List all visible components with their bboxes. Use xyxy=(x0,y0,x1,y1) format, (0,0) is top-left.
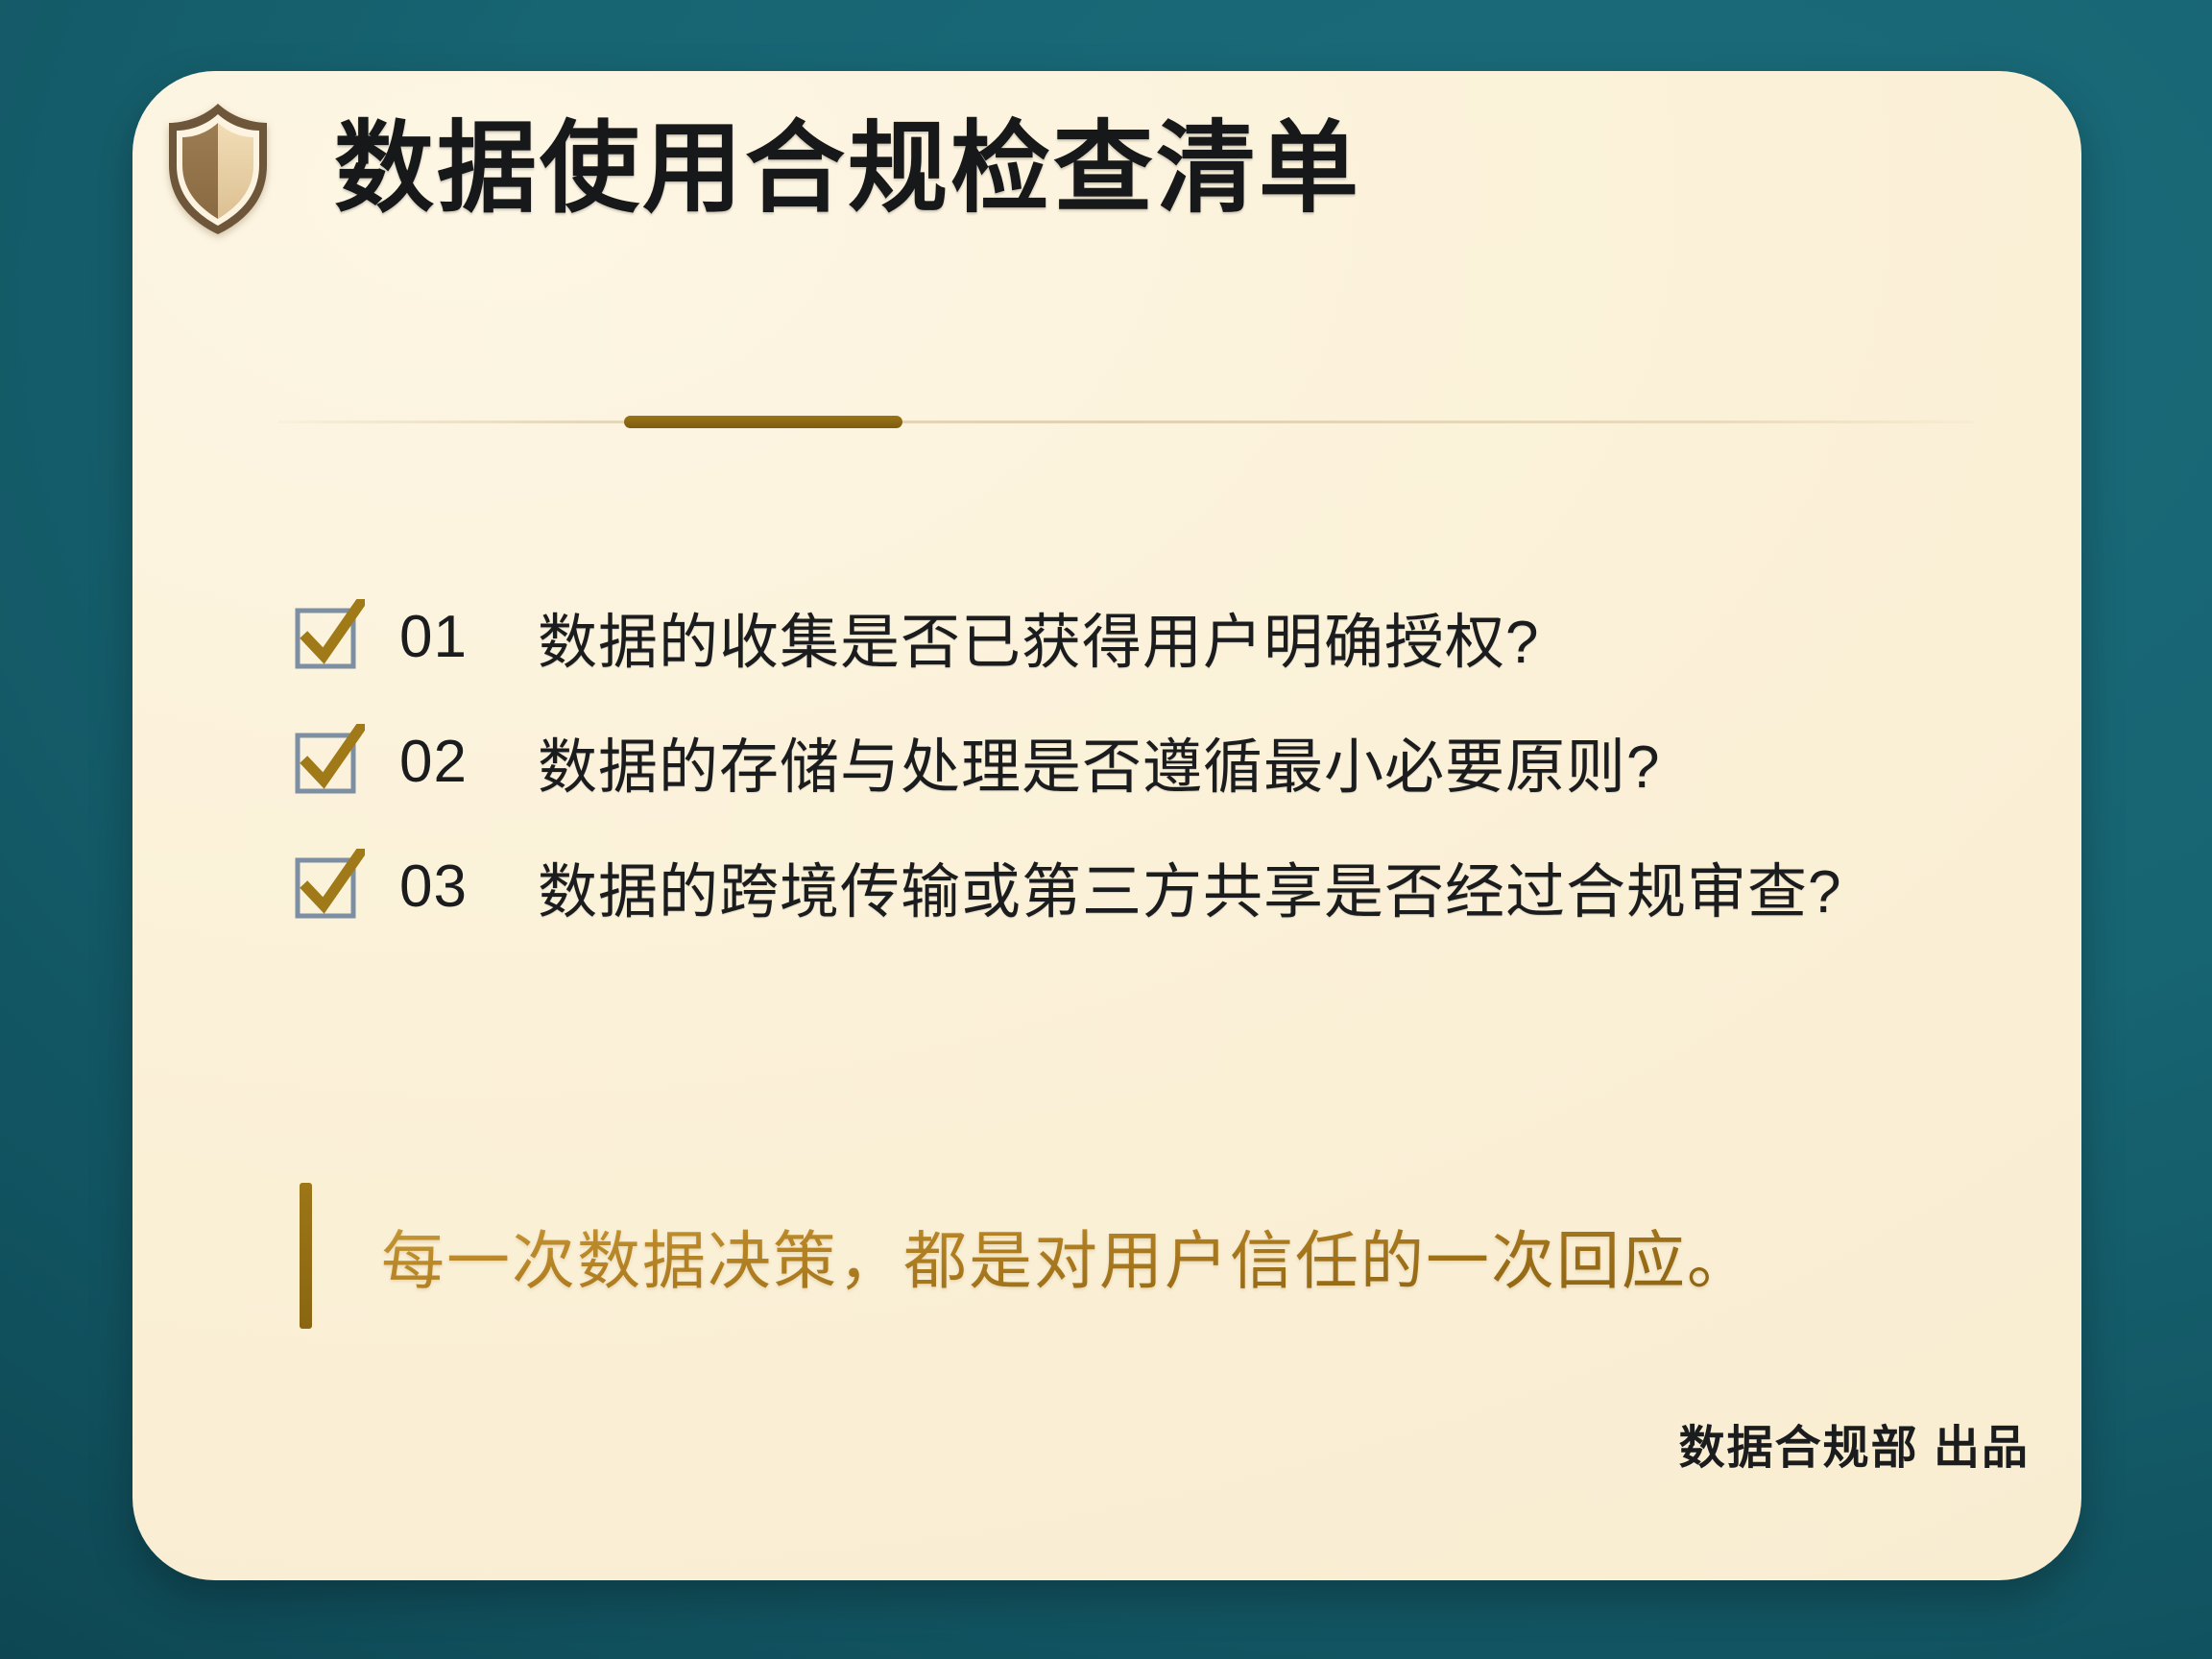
checkbox-checked-icon[interactable] xyxy=(294,599,365,670)
checkbox-checked-icon[interactable] xyxy=(294,724,365,795)
checklist-item[interactable]: 03 数据的跨境传输或第三方共享是否经过合规审查? xyxy=(294,824,2003,949)
checklist-item-text: 数据的收集是否已获得用户明确授权? xyxy=(538,593,1539,680)
checklist-item[interactable]: 01 数据的收集是否已获得用户明确授权? xyxy=(294,574,2003,699)
checkbox-checked-icon[interactable] xyxy=(294,849,365,920)
checklist-item-text: 数据的跨境传输或第三方共享是否经过合规审查? xyxy=(538,843,1841,929)
title-divider xyxy=(278,413,1973,430)
quote-block: 每一次数据决策，都是对用户信任的一次回应。 xyxy=(300,1183,1752,1329)
quote-text: 每一次数据决策，都是对用户信任的一次回应。 xyxy=(381,1210,1752,1302)
footer-credit: 数据合规部 出品 xyxy=(1679,1409,2030,1477)
checklist-item-number: 02 xyxy=(399,728,507,796)
checklist-item-number: 03 xyxy=(399,853,507,921)
checklist-item[interactable]: 02 数据的存储与处理是否遵循最小必要原则? xyxy=(294,699,2003,824)
quote-accent-bar xyxy=(300,1183,312,1329)
shield-icon xyxy=(161,102,275,236)
header: 数据使用合规检查清单 xyxy=(161,102,1361,236)
divider-hairline xyxy=(278,421,1973,423)
checklist-item-number: 01 xyxy=(399,603,507,671)
page-title: 数据使用合规检查清单 xyxy=(334,116,1361,222)
slide-canvas: 数据使用合规检查清单 01 数据的收集是否已获得用户明确授权? 02 数据的存储… xyxy=(0,0,2212,1659)
checklist-item-text: 数据的存储与处理是否遵循最小必要原则? xyxy=(538,718,1660,805)
checklist: 01 数据的收集是否已获得用户明确授权? 02 数据的存储与处理是否遵循最小必要… xyxy=(294,574,2003,949)
divider-accent xyxy=(624,416,902,428)
